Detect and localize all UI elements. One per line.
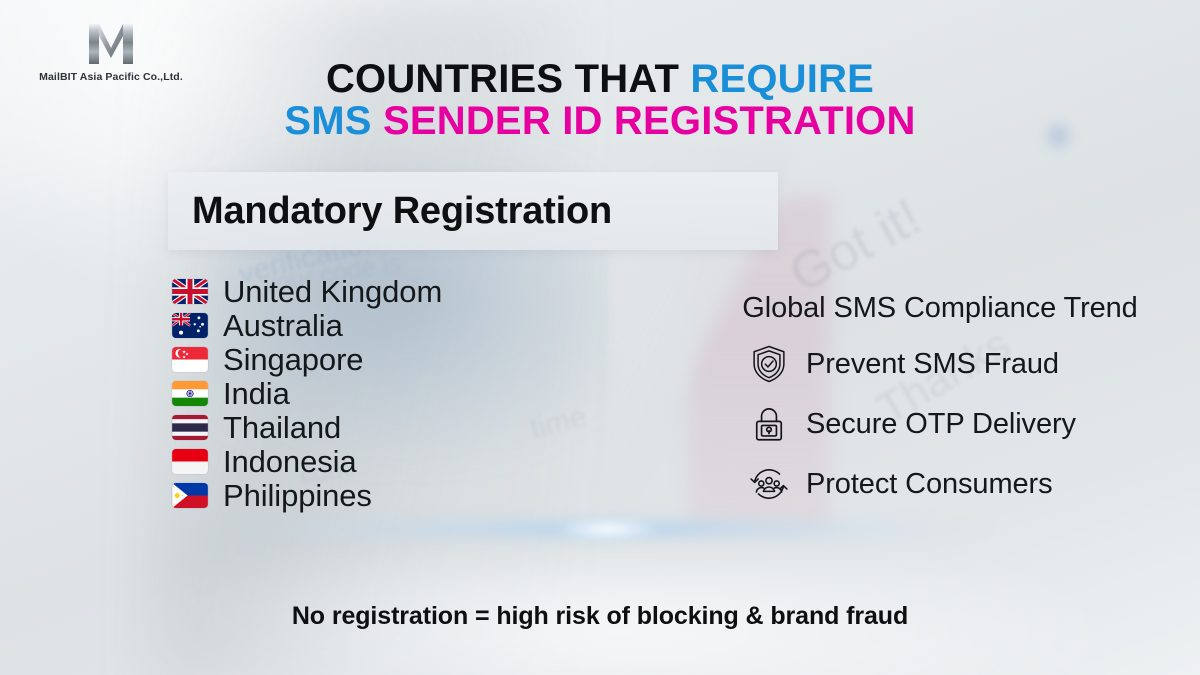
- title-line-2-accent: SMS: [284, 99, 371, 143]
- flag-indonesia-icon: [172, 449, 208, 474]
- country-name: India: [223, 378, 290, 409]
- list-item: Australia: [172, 308, 442, 342]
- country-name: Thailand: [223, 412, 341, 443]
- flag-australia-icon: [172, 313, 208, 338]
- list-item: Secure OTP Delivery: [700, 403, 1180, 445]
- footer-statement: No registration = high risk of blocking …: [0, 602, 1200, 631]
- background-watermark-text: Got it!: [780, 187, 931, 305]
- protect-people-icon: [748, 463, 790, 505]
- title-line-2-plain: SENDER ID REGISTRATION: [372, 99, 916, 143]
- trend-label: Protect Consumers: [806, 468, 1053, 501]
- infographic-slide: Got it! Thanks verification code your co…: [0, 0, 1200, 675]
- band-heading: Mandatory Registration: [192, 190, 612, 233]
- list-item: Prevent SMS Fraud: [700, 343, 1180, 385]
- trend-label: Prevent SMS Fraud: [806, 348, 1059, 381]
- list-item: United Kingdom: [172, 274, 442, 308]
- title-line-2: SMS SENDER ID REGISTRATION: [0, 100, 1200, 142]
- flag-united-kingdom-icon: [172, 279, 208, 304]
- flag-thailand-icon: [172, 415, 208, 440]
- country-name: Indonesia: [223, 446, 357, 477]
- background-lens-flare: [230, 516, 990, 542]
- flag-singapore-icon: [172, 347, 208, 372]
- country-name: United Kingdom: [223, 276, 442, 307]
- background-watermark-text: time: [527, 400, 590, 446]
- compliance-trend-panel: Global SMS Compliance Trend Prevent SMS …: [700, 292, 1180, 505]
- list-item: Protect Consumers: [700, 463, 1180, 505]
- title-line-1-accent: REQUIRE: [690, 57, 874, 101]
- padlock-icon: [748, 403, 790, 445]
- list-item: Philippines: [172, 478, 442, 512]
- trend-label: Secure OTP Delivery: [806, 408, 1076, 441]
- shield-check-icon: [748, 343, 790, 385]
- country-name: Singapore: [223, 344, 363, 375]
- mandatory-registration-band: Mandatory Registration: [168, 172, 778, 250]
- title-line-1-plain: COUNTRIES THAT: [326, 57, 690, 101]
- list-item: India: [172, 376, 442, 410]
- country-name: Australia: [223, 310, 343, 341]
- country-list: United Kingdom Australia: [172, 274, 442, 512]
- flag-india-icon: [172, 381, 208, 406]
- list-item: Indonesia: [172, 444, 442, 478]
- trend-heading: Global SMS Compliance Trend: [700, 292, 1180, 325]
- background-flare-core: [560, 518, 656, 540]
- page-title: COUNTRIES THAT REQUIRE SMS SENDER ID REG…: [0, 58, 1200, 143]
- list-item: Singapore: [172, 342, 442, 376]
- list-item: Thailand: [172, 410, 442, 444]
- country-name: Philippines: [223, 480, 372, 511]
- flag-philippines-icon: [172, 483, 208, 508]
- title-line-1: COUNTRIES THAT REQUIRE: [0, 58, 1200, 100]
